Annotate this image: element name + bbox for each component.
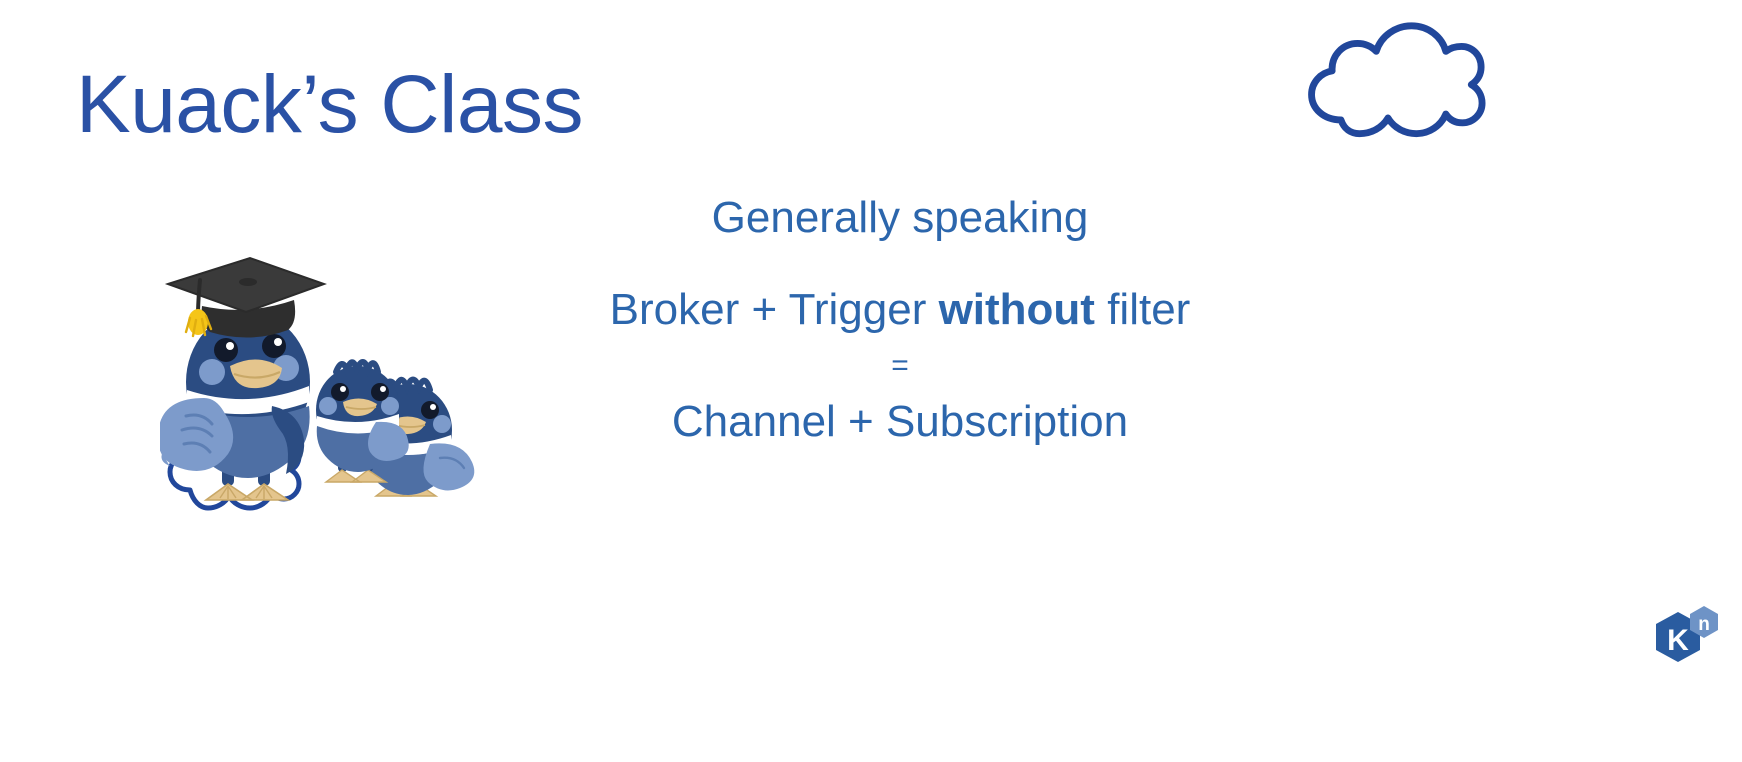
cloud-outline-icon: [1300, 22, 1488, 142]
without-emphasis: without: [939, 285, 1095, 334]
body-line-channel-subscription: Channel + Subscription: [560, 399, 1240, 445]
knative-logo: K n: [1648, 600, 1724, 672]
equals-sign: =: [560, 351, 1240, 381]
broker-trigger-prefix: Broker + Trigger: [610, 285, 939, 334]
slide-canvas: Kuack’s Class: [0, 0, 1742, 762]
logo-letter-k: K: [1667, 624, 1689, 657]
slide-body-text: Generally speaking Broker + Trigger with…: [560, 195, 1240, 446]
broker-trigger-suffix: filter: [1095, 285, 1190, 334]
page-title: Kuack’s Class: [76, 62, 583, 148]
logo-letter-n: n: [1698, 614, 1710, 635]
body-line-generally-speaking: Generally speaking: [560, 195, 1240, 241]
graduate-bird-with-chicks-illustration: [160, 222, 500, 512]
body-line-broker-trigger: Broker + Trigger without filter: [560, 287, 1240, 333]
